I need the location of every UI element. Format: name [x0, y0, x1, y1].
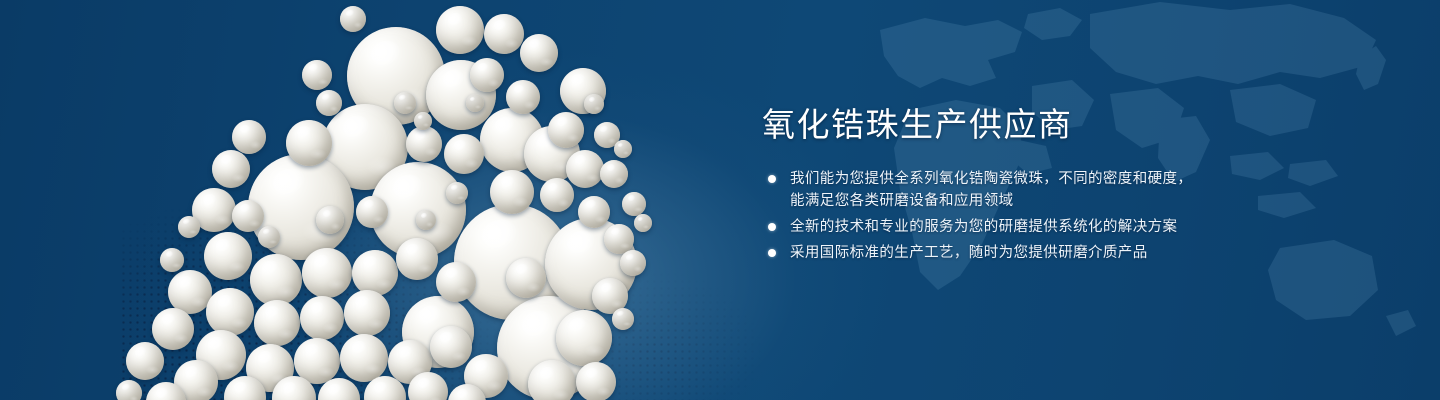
bullet-dot-icon: [768, 223, 776, 231]
list-item-line1: 我们能为您提供全系列氧化锆陶瓷微珠，不同的密度和硬度，: [790, 171, 1192, 187]
list-item-line1: 采用国际标准的生产工艺，随时为您提供研磨介质产品: [790, 245, 1148, 261]
list-item-line1: 全新的技术和专业的服务为您的研磨提供系统化的解决方案: [790, 219, 1177, 235]
bullet-dot-icon: [768, 175, 776, 183]
list-item: 我们能为您提供全系列氧化锆陶瓷微珠，不同的密度和硬度， 能满足您各类研磨设备和应…: [762, 168, 1232, 212]
page-title: 氧化锆珠生产供应商: [762, 104, 1232, 146]
feature-list: 我们能为您提供全系列氧化锆陶瓷微珠，不同的密度和硬度， 能满足您各类研磨设备和应…: [762, 168, 1232, 264]
list-item: 采用国际标准的生产工艺，随时为您提供研磨介质产品: [762, 242, 1232, 264]
bullet-dot-icon: [768, 249, 776, 257]
list-item: 全新的技术和专业的服务为您的研磨提供系统化的解决方案: [762, 216, 1232, 238]
hero-banner: 氧化锆珠生产供应商 我们能为您提供全系列氧化锆陶瓷微珠，不同的密度和硬度， 能满…: [0, 0, 1440, 400]
banner-text-block: 氧化锆珠生产供应商 我们能为您提供全系列氧化锆陶瓷微珠，不同的密度和硬度， 能满…: [762, 104, 1232, 268]
list-item-line2: 能满足您各类研磨设备和应用领域: [790, 190, 1232, 212]
